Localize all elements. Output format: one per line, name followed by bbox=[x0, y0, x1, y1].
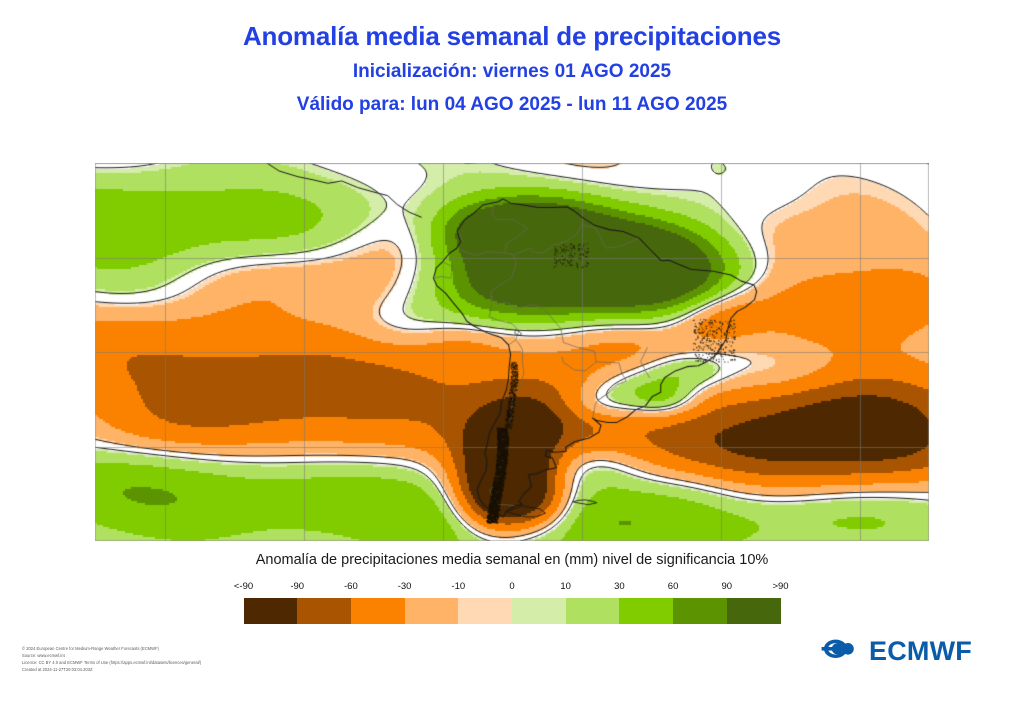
colorbar-swatch bbox=[619, 598, 673, 624]
precipitation-anomaly-map bbox=[95, 163, 929, 541]
subtitle-initialization: Inicialización: viernes 01 AGO 2025 bbox=[0, 58, 1024, 86]
colorbar-swatch bbox=[244, 598, 298, 624]
credit-line-source: Source: www.ecmwf.int bbox=[22, 652, 201, 659]
colorbar-tick: -10 bbox=[451, 581, 465, 592]
colorbar-tick: -30 bbox=[398, 581, 412, 592]
subtitle-valid-period: Válido para: lun 04 AGO 2025 - lun 11 AG… bbox=[0, 91, 1024, 119]
colorbar-tick: 30 bbox=[614, 581, 625, 592]
colorbar-swatch bbox=[566, 598, 620, 624]
colorbar-swatch bbox=[673, 598, 727, 624]
page-title: Anomalía media semanal de precipitacione… bbox=[0, 22, 1024, 52]
colorbar-tick: 90 bbox=[722, 581, 733, 592]
colorbar-tick: -90 bbox=[290, 581, 304, 592]
credit-line-copyright: © 2024 European Centre for Medium-Range … bbox=[22, 645, 201, 652]
colorbar-swatch bbox=[297, 598, 351, 624]
colorbar-swatch bbox=[512, 598, 566, 624]
colorbar-tick: 10 bbox=[560, 581, 571, 592]
title-block: Anomalía media semanal de precipitacione… bbox=[0, 22, 1024, 119]
footer-credit: © 2024 European Centre for Medium-Range … bbox=[22, 645, 201, 673]
ecmwf-wordmark: ECMWF bbox=[869, 638, 972, 665]
colorbar-tick: 0 bbox=[509, 581, 514, 592]
colorbar-swatch bbox=[458, 598, 512, 624]
colorbar-tick: 60 bbox=[668, 581, 679, 592]
colorbar-tick-labels: <-90-90-60-30-10010306090>90 bbox=[244, 581, 781, 595]
colorbar-swatch bbox=[351, 598, 405, 624]
ecmwf-globe-icon bbox=[821, 636, 863, 667]
legend-caption: Anomalía de precipitaciones media semana… bbox=[0, 552, 1024, 569]
map-canvas bbox=[95, 163, 929, 541]
ecmwf-logo: ECMWF bbox=[821, 636, 972, 667]
colorbar-tick: -60 bbox=[344, 581, 358, 592]
colorbar-strip bbox=[244, 598, 781, 624]
colorbar: <-90-90-60-30-10010306090>90 bbox=[244, 581, 781, 624]
colorbar-swatch bbox=[727, 598, 781, 624]
credit-line-created: Created at 2024-11-27T20:03:04.203Z bbox=[22, 666, 201, 673]
credit-line-licence: Licence: CC BY 4.0 and ECMWF Terms of Us… bbox=[22, 659, 201, 666]
colorbar-tick: >90 bbox=[772, 581, 788, 592]
colorbar-swatch bbox=[405, 598, 459, 624]
legend-block: Anomalía de precipitaciones media semana… bbox=[0, 552, 1024, 624]
colorbar-tick: <-90 bbox=[234, 581, 253, 592]
